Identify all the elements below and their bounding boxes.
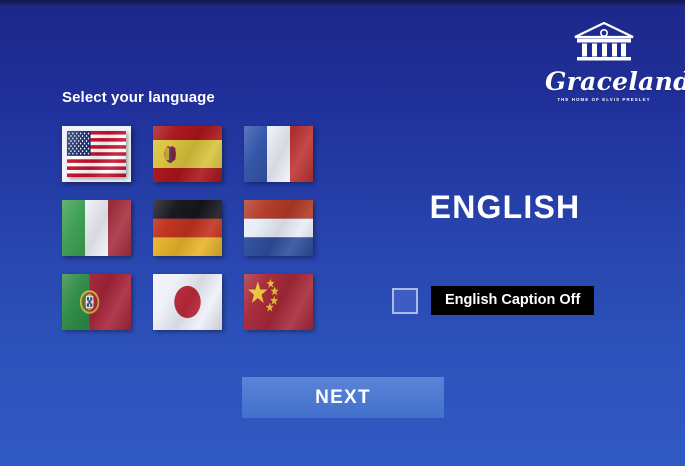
caption-toggle-row: English Caption Off — [392, 286, 594, 315]
flag-de-icon — [153, 200, 222, 256]
flag-pt-icon — [62, 274, 131, 330]
flag-es-icon — [153, 126, 222, 182]
caption-toggle-label[interactable]: English Caption Off — [431, 286, 594, 315]
flag-cn-icon — [244, 274, 313, 330]
flag-option-de[interactable] — [153, 200, 222, 256]
flag-option-jp[interactable] — [153, 274, 222, 330]
flag-nl-icon — [244, 200, 313, 256]
flag-option-nl[interactable] — [244, 200, 313, 256]
flag-fr-icon — [244, 126, 313, 182]
flag-option-us[interactable] — [62, 126, 131, 182]
flag-it-icon — [62, 200, 131, 256]
flag-option-it[interactable] — [62, 200, 131, 256]
selected-language-label: ENGLISH — [380, 189, 630, 226]
logo-tagline: THE HOME OF ELVIS PRESLEY — [545, 97, 663, 102]
caption-checkbox[interactable] — [392, 288, 418, 314]
language-selection-screen: Graceland THE HOME OF ELVIS PRESLEY Sele… — [0, 0, 685, 466]
flag-option-es[interactable] — [153, 126, 222, 182]
graceland-logo: Graceland THE HOME OF ELVIS PRESLEY — [545, 22, 663, 102]
flag-jp-icon — [153, 274, 222, 330]
language-flag-grid — [62, 126, 313, 330]
flag-option-pt[interactable] — [62, 274, 131, 330]
flag-us-icon — [67, 131, 126, 177]
flag-option-fr[interactable] — [244, 126, 313, 182]
page-title: Select your language — [62, 89, 215, 106]
top-edge-strip — [0, 0, 685, 5]
flag-option-cn[interactable] — [244, 274, 313, 330]
logo-wordmark: Graceland — [545, 69, 663, 94]
next-button[interactable]: NEXT — [242, 377, 444, 418]
classical-building-icon — [545, 22, 663, 67]
